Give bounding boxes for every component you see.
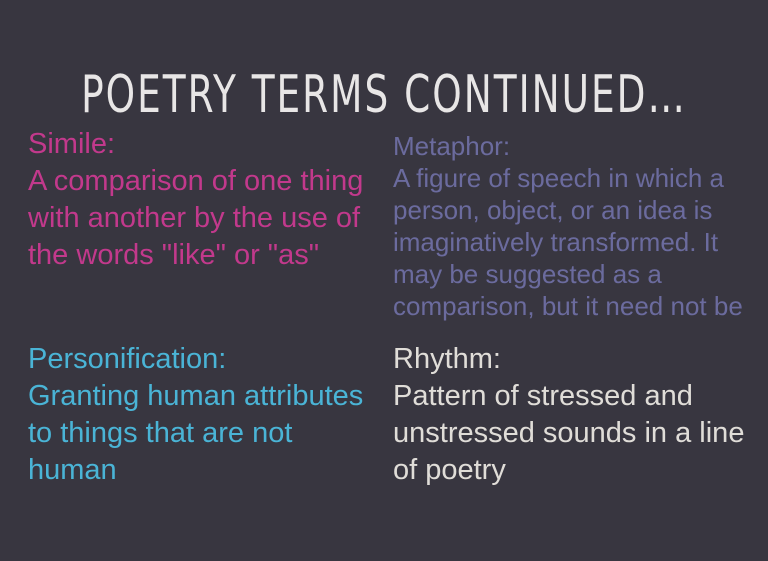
term-block-personification: Personification: Granting human attribut…	[28, 341, 380, 489]
term-block-metaphor: Metaphor: A figure of speech in which a …	[393, 130, 745, 322]
term-block-rhythm: Rhythm: Pattern of stressed and unstress…	[393, 341, 745, 489]
presentation-slide: POETRY TERMS CONTINUED… Simile: A compar…	[0, 0, 768, 561]
slide-title: POETRY TERMS CONTINUED…	[77, 65, 691, 125]
term-block-simile: Simile: A comparison of one thing with a…	[28, 126, 380, 274]
